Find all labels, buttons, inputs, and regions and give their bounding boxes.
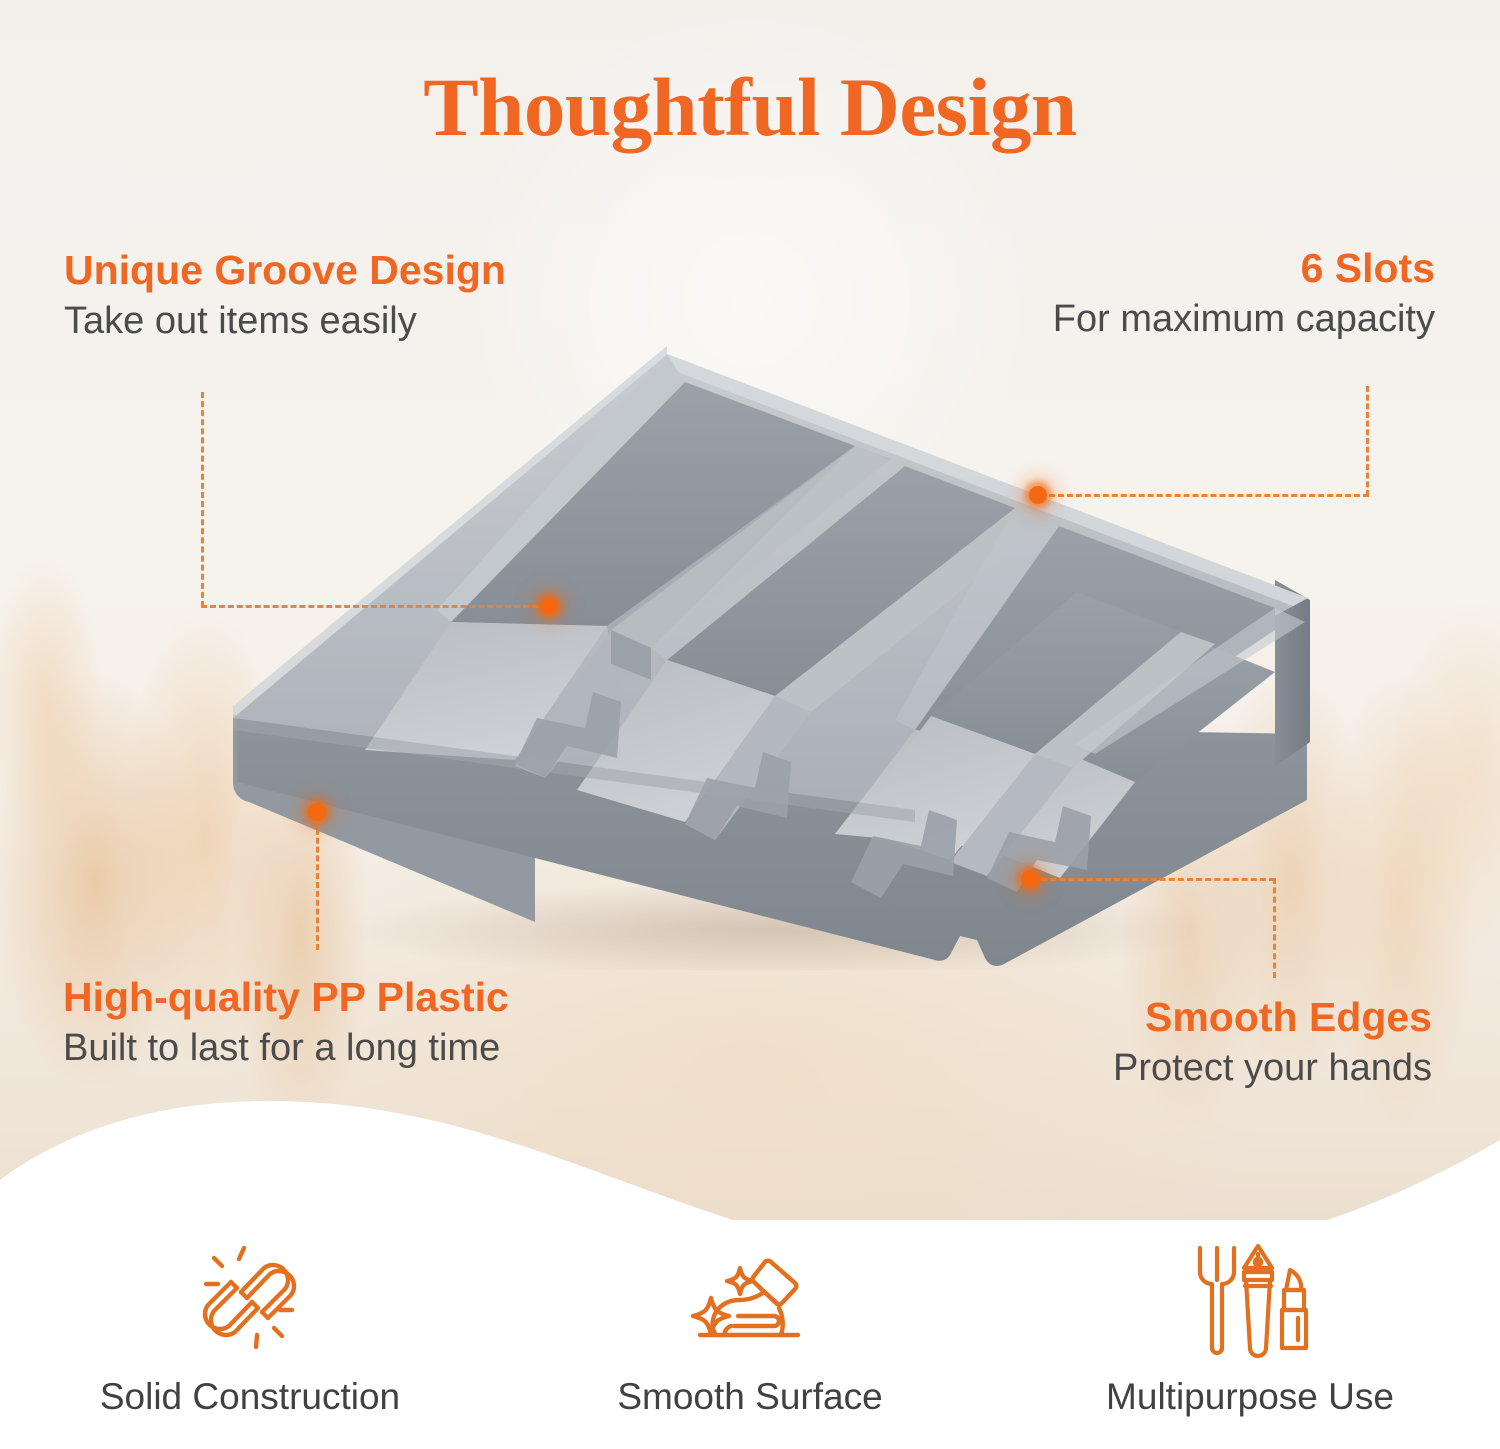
feature-multipurpose-use: Multipurpose Use — [1000, 1240, 1500, 1418]
product-image-cutlery-tray — [215, 330, 1325, 970]
hotspot-dot-slots — [1029, 486, 1047, 504]
callout-heading: High-quality PP Plastic — [63, 975, 509, 1019]
feature-row: Solid Construction — [0, 1240, 1500, 1418]
fork-pen-lipstick-icon — [1184, 1240, 1316, 1360]
hotspot-dot-groove — [540, 597, 558, 615]
feature-solid-construction: Solid Construction — [0, 1240, 500, 1418]
callout-subtext: Take out items easily — [64, 301, 506, 343]
hand-sparkle-surface-icon — [684, 1240, 816, 1360]
callout-heading: Unique Groove Design — [64, 248, 506, 292]
hotspot-dot-edges — [1021, 870, 1039, 888]
page-title: Thoughtful Design — [0, 66, 1500, 149]
feature-label: Multipurpose Use — [1106, 1376, 1394, 1418]
callout-subtext: Protect your hands — [1113, 1048, 1432, 1090]
feature-label: Solid Construction — [100, 1376, 400, 1418]
chain-links-icon — [184, 1240, 316, 1360]
hotspot-dot-plastic — [308, 803, 326, 821]
feature-smooth-surface: Smooth Surface — [500, 1240, 1000, 1418]
callout-heading: 6 Slots — [1053, 246, 1435, 290]
callout-subtext: For maximum capacity — [1053, 299, 1435, 341]
callout-subtext: Built to last for a long time — [63, 1028, 509, 1070]
infographic-page: Thoughtful Design Unique Groove Design T… — [0, 0, 1500, 1449]
callout-unique-groove-design: Unique Groove Design Take out items easi… — [64, 248, 506, 343]
feature-label: Smooth Surface — [617, 1376, 882, 1418]
callout-smooth-edges: Smooth Edges Protect your hands — [1113, 995, 1432, 1090]
callout-heading: Smooth Edges — [1113, 995, 1432, 1039]
callout-high-quality-pp-plastic: High-quality PP Plastic Built to last fo… — [63, 975, 509, 1070]
callout-6-slots: 6 Slots For maximum capacity — [1053, 246, 1435, 341]
